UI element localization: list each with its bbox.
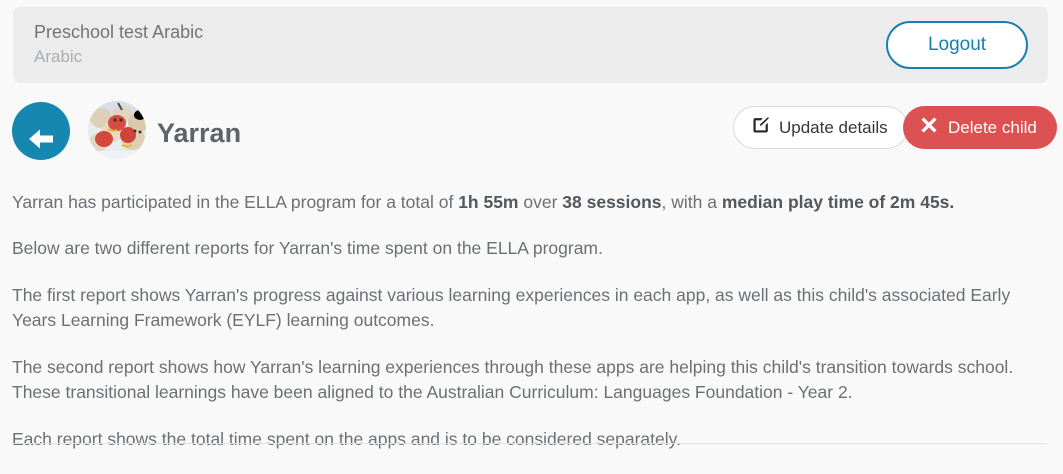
second-report-paragraph: The second report shows how Yarran's lea… xyxy=(12,355,1052,405)
school-name: Preschool test Arabic xyxy=(34,20,203,45)
p1-text-2: over xyxy=(519,192,563,212)
page-title: Yarran xyxy=(157,114,241,152)
avatar xyxy=(88,101,146,159)
first-report-paragraph: The first report shows Yarran's progress… xyxy=(12,283,1052,333)
back-button[interactable] xyxy=(12,102,70,160)
edit-pencil-square-icon xyxy=(751,116,770,140)
p1-text-1: Yarran has participated in the ELLA prog… xyxy=(12,192,458,212)
delete-child-label: Delete child xyxy=(948,118,1037,138)
logout-button[interactable]: Logout xyxy=(886,21,1028,69)
participation-summary-paragraph: Yarran has participated in the ELLA prog… xyxy=(12,190,1052,215)
close-cross-icon xyxy=(920,116,938,139)
delete-child-button[interactable]: Delete child xyxy=(903,106,1057,149)
child-report-page: Preschool test Arabic Arabic Logout Upda… xyxy=(0,0,1063,456)
session-count-value: 38 sessions xyxy=(562,192,661,212)
update-details-label: Update details xyxy=(779,118,888,138)
p1-text-3: , with a xyxy=(662,192,722,212)
report-note-paragraph: Each report shows the total time spent o… xyxy=(12,427,1052,452)
school-language: Arabic xyxy=(34,45,203,69)
update-details-button[interactable]: Update details xyxy=(733,106,908,149)
school-identity: Preschool test Arabic Arabic xyxy=(34,20,203,69)
reports-intro-paragraph: Below are two different reports for Yarr… xyxy=(12,236,1052,261)
section-divider xyxy=(12,443,1047,444)
total-time-value: 1h 55m xyxy=(458,192,518,212)
median-play-time-value: median play time of 2m 45s. xyxy=(722,192,954,212)
child-header-row: Update details Delete child Yarran xyxy=(0,98,1063,168)
school-header-bar: Preschool test Arabic Arabic Logout xyxy=(13,7,1048,83)
summary-text-block: Yarran has participated in the ELLA prog… xyxy=(12,190,1052,474)
arrow-left-icon xyxy=(12,125,70,153)
